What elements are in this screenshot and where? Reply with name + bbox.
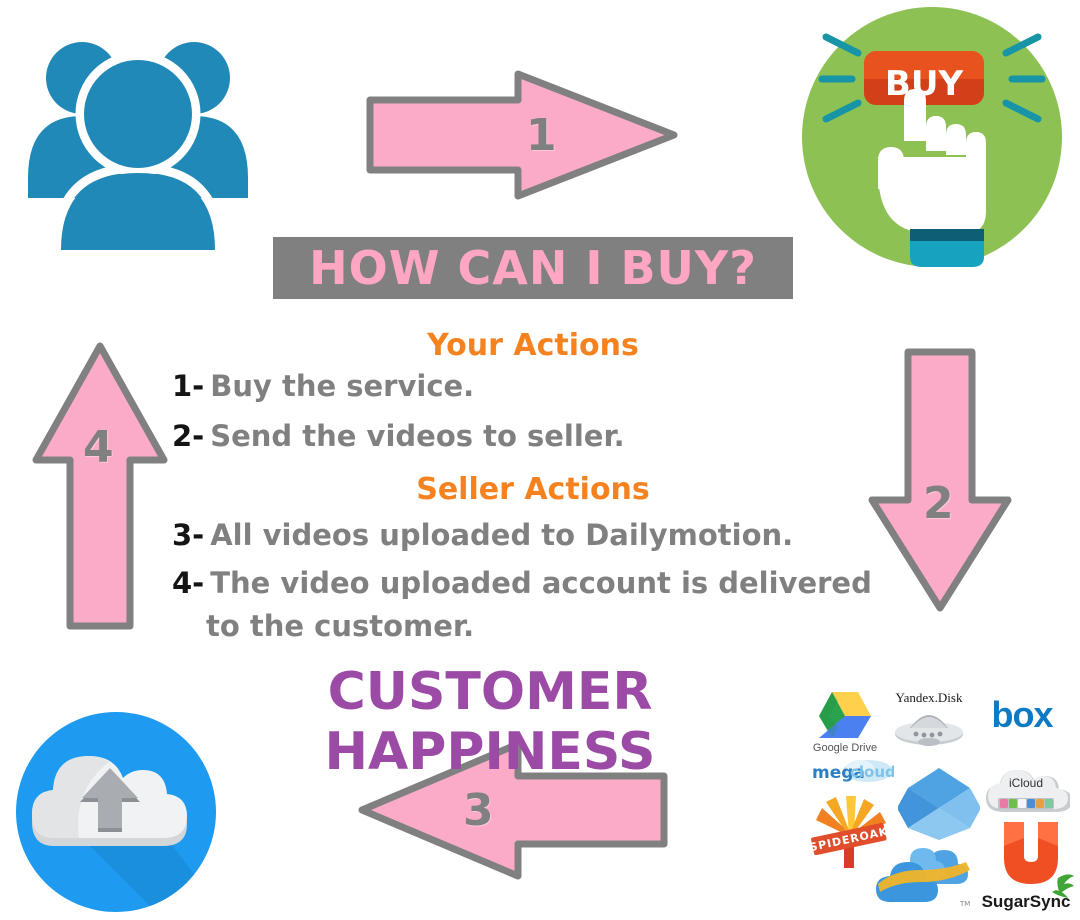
megacloud-logo: mega cloud	[810, 758, 894, 784]
cloud-services-logos: Google Drive Yandex.Disk box mega cloud	[800, 686, 1078, 916]
yandex-disk-logo: Yandex.Disk	[886, 690, 972, 752]
list-item-text: Send the videos to seller.	[210, 419, 624, 453]
cloud-upload-icon	[14, 710, 219, 915]
arrow-step-4-label: 4	[83, 422, 114, 473]
list-item-number: 1-	[172, 369, 204, 403]
google-drive-label: Google Drive	[808, 742, 882, 754]
arrow-step-4: 4	[32, 342, 168, 630]
sugarsync-label: SugarSync	[978, 892, 1074, 912]
buy-button-illustration: BUY	[800, 5, 1065, 270]
list-item: 3-All videos uploaded to Dailymotion.	[172, 518, 793, 552]
footer-title: CUSTOMER HAPPINESS	[160, 662, 820, 782]
wrist-cuff	[910, 229, 984, 267]
list-item-text: The video uploaded account is delivered	[210, 566, 872, 600]
arrow-step-3-label: 3	[463, 785, 494, 836]
google-drive-logo: Google Drive	[808, 690, 882, 752]
list-item-number: 3-	[172, 518, 204, 552]
arrow-step-1-label: 1	[526, 110, 557, 161]
list-item: 1-Buy the service.	[172, 369, 474, 403]
arrow-step-1: 1	[366, 70, 678, 200]
dropbox-logo	[898, 764, 980, 840]
box-logo: box	[976, 694, 1068, 746]
sugarsync-logo: SugarSync	[978, 816, 1074, 910]
section-heading-your-actions: Your Actions	[163, 328, 903, 363]
svg-text:TM: TM	[959, 900, 970, 908]
arrow-step-2-label: 2	[923, 478, 954, 529]
list-item: 4-The video uploaded account is delivere…	[172, 566, 872, 600]
yandex-disk-label: Yandex.Disk	[886, 690, 972, 706]
list-item-continuation: to the customer.	[206, 609, 474, 643]
box-label: box	[976, 694, 1068, 736]
list-item: 2-Send the videos to seller.	[172, 419, 625, 453]
list-item-number: 4-	[172, 566, 204, 600]
list-item-text: to the customer.	[206, 609, 474, 643]
svg-text:cloud: cloud	[850, 763, 894, 781]
page-title-text: HOW CAN I BUY?	[309, 245, 757, 291]
section-heading-seller-actions: Seller Actions	[163, 472, 903, 507]
icloud-logo: iCloud	[982, 768, 1070, 816]
list-item-text: All videos uploaded to Dailymotion.	[210, 518, 793, 552]
list-item-text: Buy the service.	[210, 369, 474, 403]
people-group-icon	[18, 18, 258, 258]
skydrive-logo: TM	[874, 844, 970, 908]
icloud-label: iCloud	[982, 776, 1070, 790]
list-item-number: 2-	[172, 419, 204, 453]
page-title: HOW CAN I BUY?	[273, 237, 793, 299]
